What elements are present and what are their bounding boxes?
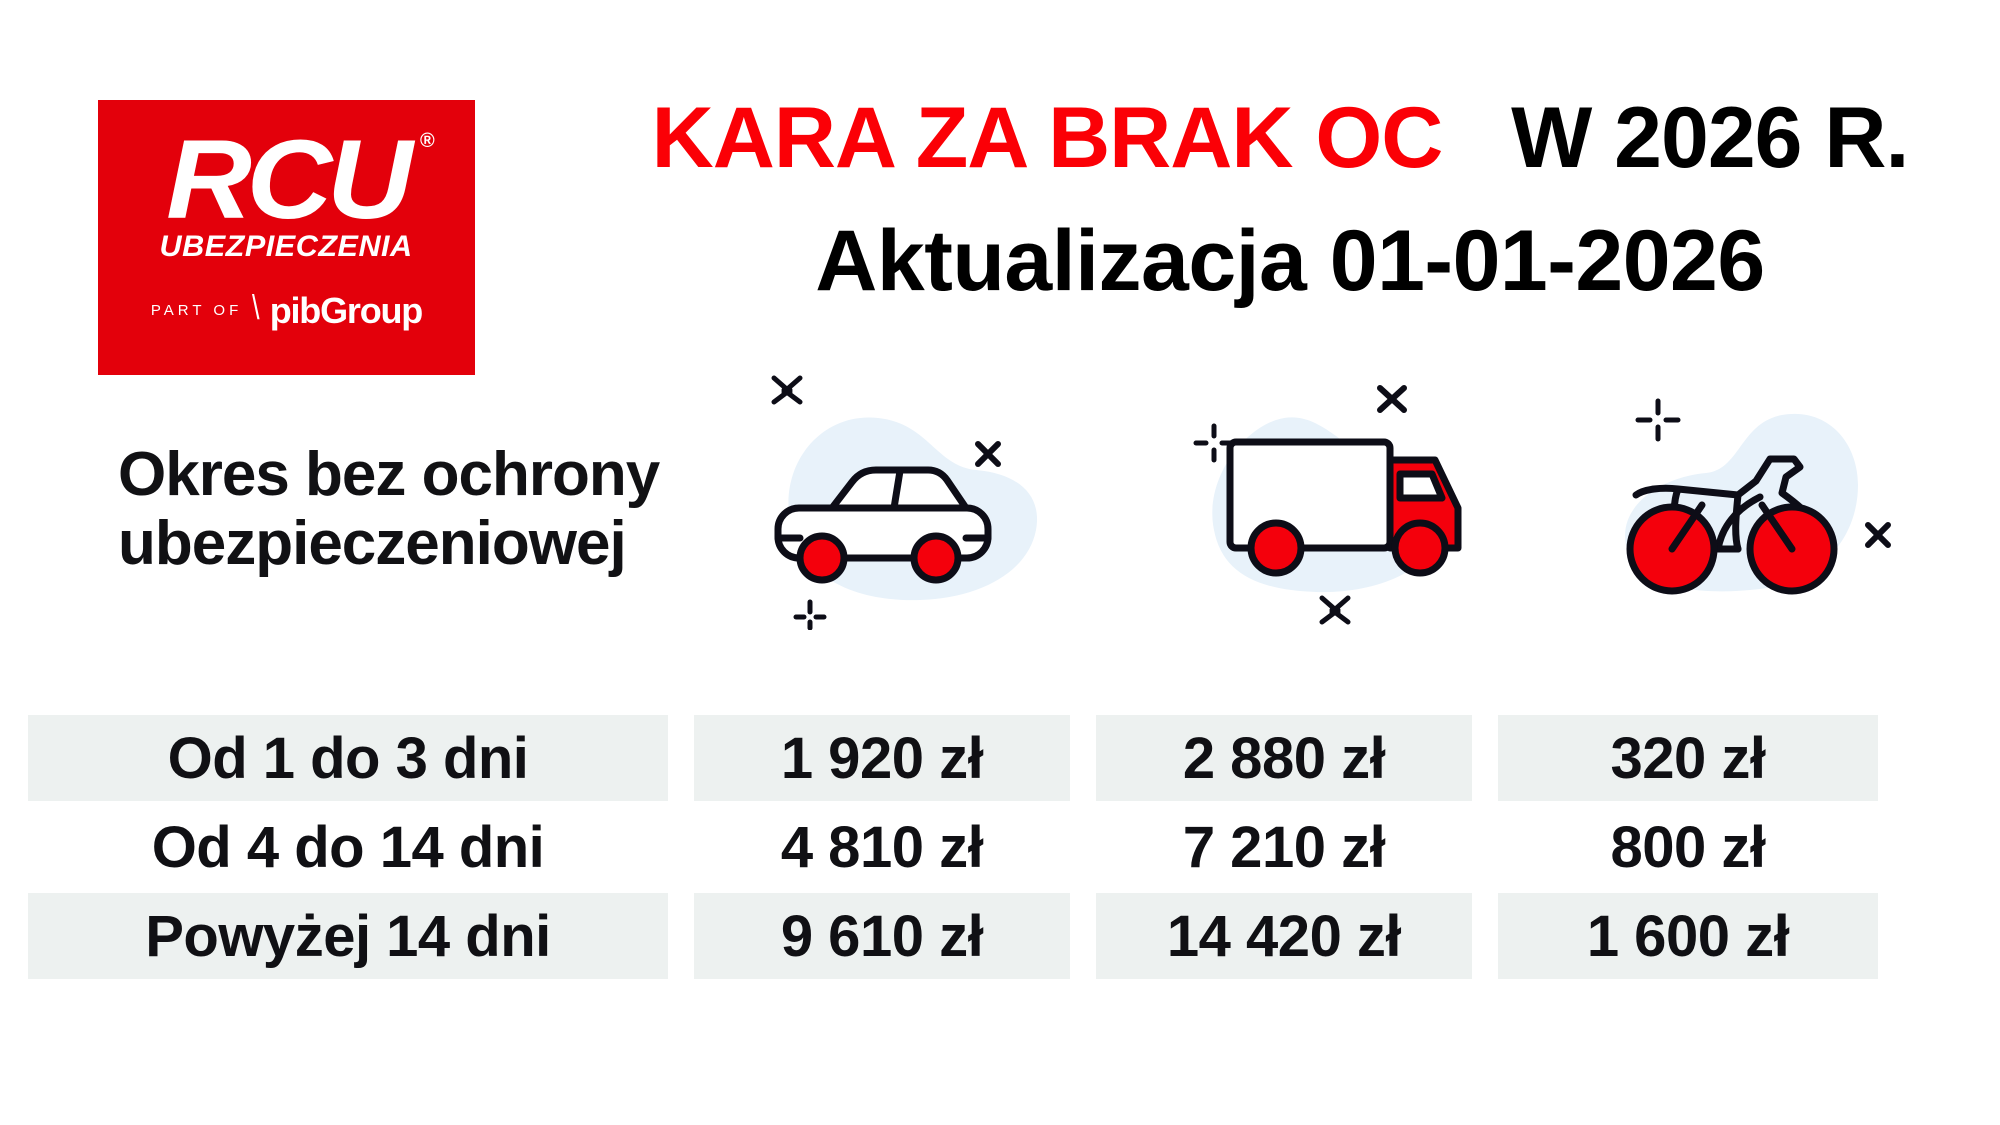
cell-car-price: 9 610 zł [694,893,1070,979]
price-table: Od 1 do 3 dni 1 920 zł 2 880 zł 320 zł O… [0,715,2000,982]
logo-subtitle: UBEZPIECZENIA [160,230,413,264]
cell-truck-price: 2 880 zł [1096,715,1472,801]
page-title-red: KARA ZA BRAK OC [652,90,1443,186]
logo-part-of: PART OF \ pibGroup [151,290,422,332]
cell-period: Od 4 do 14 dni [28,804,668,890]
period-column-header: Okres bez ochrony ubezpieczeniowej [118,440,778,579]
cell-period: Od 1 do 3 dni [28,715,668,801]
logo-wordmark-text: RCU [166,117,407,242]
cell-moto-price: 800 zł [1498,804,1878,890]
cell-truck-price: 7 210 zł [1096,804,1472,890]
sparkle-decoration [774,378,800,402]
motorcycle-icon [1610,385,1930,645]
page-title-year: W 2026 R. [1511,90,1908,186]
car-icon [760,370,1080,630]
slash-icon: \ [252,289,260,328]
cell-period: Powyżej 14 dni [28,893,668,979]
cell-truck-price: 14 420 zł [1096,893,1472,979]
cell-car-price: 1 920 zł [694,715,1070,801]
cell-moto-price: 1 600 zł [1498,893,1878,979]
cell-moto-price: 320 zł [1498,715,1878,801]
part-of-label: PART OF [151,302,242,319]
page-subtitle: Aktualizacja 01-01-2026 [600,218,1980,304]
pib-group-wordmark: pibGroup [270,290,422,332]
rcu-logo: RCU® UBEZPIECZENIA PART OF \ pibGroup [98,100,475,375]
logo-wordmark: RCU® [166,126,407,234]
period-column-header-line2: ubezpieczeniowej [118,509,778,578]
page-title: KARA ZA BRAK OC W 2026 R. [600,95,1960,181]
table-row: Od 4 do 14 dni 4 810 zł 7 210 zł 800 zł [0,804,2000,890]
table-row: Od 1 do 3 dni 1 920 zł 2 880 zł 320 zł [0,715,2000,801]
truck-icon [1170,370,1490,630]
registered-trademark-icon: ® [420,132,435,151]
cell-car-price: 4 810 zł [694,804,1070,890]
period-column-header-line1: Okres bez ochrony [118,440,778,509]
table-row: Powyżej 14 dni 9 610 zł 14 420 zł 1 600 … [0,893,2000,979]
